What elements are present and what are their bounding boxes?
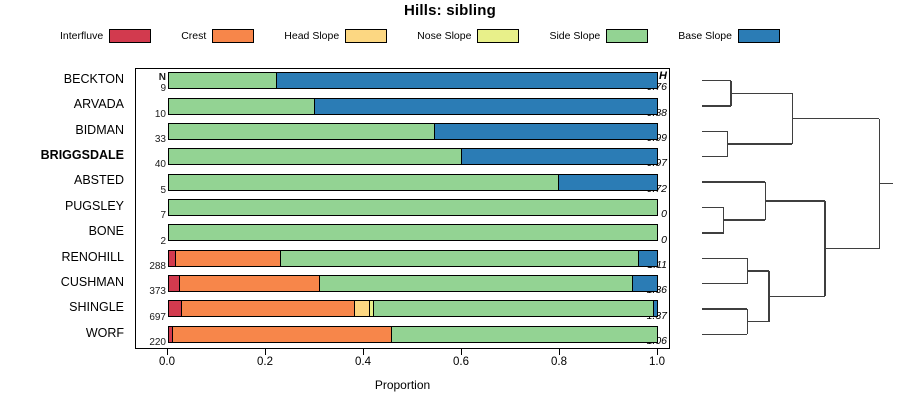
- legend-swatch: [738, 29, 780, 43]
- legend-item-interfluve: Interfluve: [60, 29, 151, 43]
- bar-segment: [169, 124, 435, 139]
- dendrogram-link: [702, 80, 731, 81]
- x-axis-title: Proportion: [135, 378, 670, 392]
- stacked-bar: [168, 148, 658, 165]
- table-row: 2201.06: [136, 323, 669, 348]
- x-axis-tick-label: 1.0: [637, 356, 677, 368]
- bar-segment: [173, 327, 392, 342]
- bar-rows: NH90.76100.88330.99400.9750.7270202881.1…: [136, 69, 669, 348]
- legend-label: Head Slope: [284, 30, 339, 42]
- bar-segment: [169, 225, 657, 240]
- table-row: 100.88: [136, 94, 669, 119]
- dendrogram-link: [724, 219, 766, 220]
- stacked-bar: [168, 275, 658, 292]
- dendrogram-link: [702, 258, 747, 259]
- bar-segment: [281, 251, 639, 266]
- row-count-value: 220: [136, 337, 166, 348]
- y-axis-label-arvada: ARVADA: [0, 95, 124, 120]
- x-axis-tick: [461, 349, 462, 355]
- stacked-bar: [168, 174, 658, 191]
- bar-segment: [277, 73, 657, 88]
- bar-segment: [169, 276, 180, 291]
- legend-item-side-slope: Side Slope: [549, 29, 648, 43]
- x-axis-tick: [167, 349, 168, 355]
- row-count-value: 33: [136, 134, 166, 145]
- stacked-bar: [168, 98, 658, 115]
- table-row: NH90.76: [136, 69, 669, 94]
- dendrogram-link: [731, 93, 793, 94]
- dendrogram-link: [702, 283, 747, 284]
- y-axis-label-bidman: BIDMAN: [0, 121, 124, 146]
- table-row: 400.97: [136, 145, 669, 170]
- bar-segment: [169, 301, 182, 316]
- table-row: 50.72: [136, 170, 669, 195]
- legend-swatch: [345, 29, 387, 43]
- dendrogram-link: [702, 232, 724, 233]
- y-axis-label-bone: BONE: [0, 222, 124, 247]
- bar-segment: [654, 301, 657, 316]
- bar-segment: [355, 301, 369, 316]
- x-axis-tick: [265, 349, 266, 355]
- x-axis-tick-label: 0.4: [343, 356, 383, 368]
- row-count-value: 697: [136, 312, 166, 323]
- x-axis-tick: [657, 349, 658, 355]
- y-axis-label-worf: WORF: [0, 324, 124, 349]
- dendrogram-link: [747, 321, 769, 322]
- stacked-bar: [168, 250, 658, 267]
- bar-segment: [180, 276, 321, 291]
- legend: InterfluveCrestHead SlopeNose SlopeSide …: [60, 26, 780, 46]
- legend-swatch: [212, 29, 254, 43]
- bar-segment: [559, 175, 657, 190]
- dendrogram-link: [702, 334, 747, 335]
- dendrogram-link: [825, 248, 879, 249]
- bar-segment: [176, 251, 281, 266]
- dendrogram-link: [769, 296, 825, 297]
- table-row: 20: [136, 221, 669, 246]
- dendrogram-link: [765, 200, 825, 201]
- x-axis-tick: [559, 349, 560, 355]
- table-row: 6971.37: [136, 297, 669, 322]
- dendrogram-link: [702, 105, 731, 106]
- bar-segment: [374, 301, 654, 316]
- dendrogram-link: [702, 207, 724, 208]
- y-axis-label-renohill: RENOHILL: [0, 248, 124, 273]
- legend-swatch: [109, 29, 151, 43]
- legend-label: Side Slope: [549, 30, 600, 42]
- legend-item-nose-slope: Nose Slope: [417, 29, 519, 43]
- plot-panel: NH90.76100.88330.99400.9750.7270202881.1…: [135, 68, 670, 349]
- legend-label: Interfluve: [60, 30, 103, 42]
- row-count-value: 9: [136, 83, 166, 94]
- legend-swatch: [477, 29, 519, 43]
- bar-segment: [169, 200, 657, 215]
- page-title: Hills: sibling: [0, 2, 900, 19]
- table-row: 3731.36: [136, 272, 669, 297]
- bar-segment: [633, 276, 657, 291]
- bar-segment: [169, 99, 315, 114]
- bar-segment: [169, 251, 176, 266]
- dendrogram-link: [793, 118, 880, 119]
- x-axis-tick-label: 0.6: [441, 356, 481, 368]
- bar-segment: [182, 301, 355, 316]
- table-row: 2881.11: [136, 247, 669, 272]
- legend-item-base-slope: Base Slope: [678, 29, 780, 43]
- row-count-value: 10: [136, 109, 166, 120]
- x-axis-tick-label: 0.0: [147, 356, 187, 368]
- row-count-value: 40: [136, 159, 166, 170]
- legend-item-head-slope: Head Slope: [284, 29, 387, 43]
- dendrogram-link: [702, 131, 727, 132]
- row-count-value: 7: [136, 210, 166, 221]
- y-axis-label-briggsdale: BRIGGSDALE: [0, 146, 124, 171]
- row-count-value: 5: [136, 185, 166, 196]
- x-axis-tick-label: 0.2: [245, 356, 285, 368]
- bar-segment: [315, 99, 657, 114]
- legend-label: Base Slope: [678, 30, 732, 42]
- legend-swatch: [606, 29, 648, 43]
- table-row: 70: [136, 196, 669, 221]
- stacked-bar: [168, 300, 658, 317]
- table-row: 330.99: [136, 120, 669, 145]
- bar-segment: [169, 149, 462, 164]
- bar-segment: [320, 276, 632, 291]
- bar-segment: [169, 175, 559, 190]
- row-count-value: 2: [136, 236, 166, 247]
- dendrogram-link: [702, 308, 747, 309]
- stacked-bar: [168, 326, 658, 343]
- stacked-bar: [168, 224, 658, 241]
- legend-item-crest: Crest: [181, 29, 254, 43]
- stacked-bar: [168, 123, 658, 140]
- dendrogram: [690, 68, 900, 349]
- dendrogram-link: [702, 156, 727, 157]
- stacked-bar: [168, 199, 658, 216]
- stacked-bar: [168, 72, 658, 89]
- dendrogram-link: [702, 181, 765, 182]
- chart-root: Hills: sibling InterfluveCrestHead Slope…: [0, 0, 900, 420]
- dendrogram-link: [747, 270, 769, 271]
- legend-label: Nose Slope: [417, 30, 471, 42]
- y-axis-label-shingle: SHINGLE: [0, 298, 124, 323]
- y-axis-label-beckton: BECKTON: [0, 70, 124, 95]
- dendrogram-link: [879, 183, 893, 184]
- bar-segment: [639, 251, 657, 266]
- x-axis-tick-label: 0.8: [539, 356, 579, 368]
- row-count-value: 288: [136, 261, 166, 272]
- row-count-value: 373: [136, 286, 166, 297]
- column-header-n: N: [136, 72, 166, 83]
- bar-segment: [462, 149, 657, 164]
- y-axis-label-cushman: CUSHMAN: [0, 273, 124, 298]
- y-axis-labels: BECKTONARVADABIDMANBRIGGSDALEABSTEDPUGSL…: [0, 68, 130, 349]
- dendrogram-link: [727, 143, 792, 144]
- bar-segment: [435, 124, 657, 139]
- bar-segment: [169, 73, 277, 88]
- x-axis-tick: [363, 349, 364, 355]
- bar-segment: [392, 327, 657, 342]
- legend-label: Crest: [181, 30, 206, 42]
- y-axis-label-pugsley: PUGSLEY: [0, 197, 124, 222]
- y-axis-label-absted: ABSTED: [0, 171, 124, 196]
